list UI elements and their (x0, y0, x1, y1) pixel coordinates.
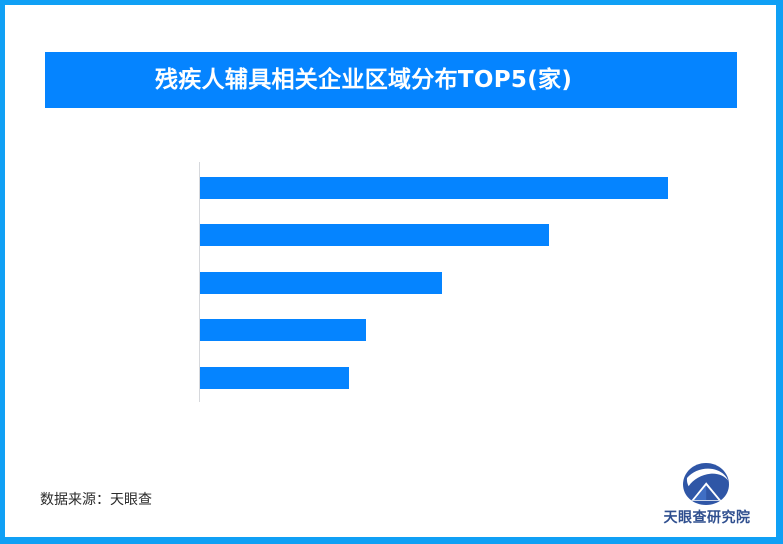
brand-logo: 天眼查研究院 (655, 462, 759, 530)
data-source-note: 数据来源：天眼查 (40, 489, 152, 509)
bar-rect (200, 367, 349, 389)
bar-rect (200, 272, 442, 294)
tianyancha-eye-icon (680, 462, 732, 506)
bar-rect (200, 224, 549, 246)
brand-logo-text: 天眼查研究院 (655, 507, 759, 527)
bar-rect (200, 177, 668, 199)
bar-rect (200, 319, 366, 341)
chart-poster: 残疾人辅具相关企业区域分布TOP5(家) 北京市河北省山东省广东省安徽省 数据来… (0, 0, 783, 544)
